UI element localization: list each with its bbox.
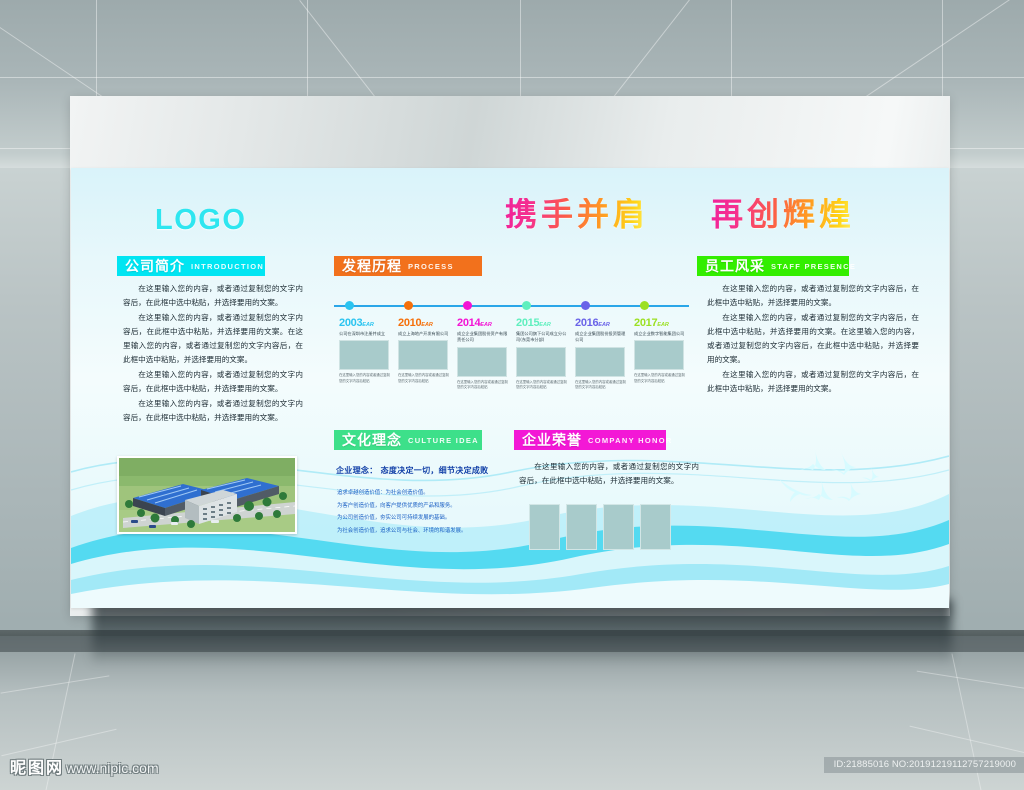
list-item: 为社会创造价值，追求公司与社会、环境的和谐发展。 [337,525,532,538]
section-title-en: CULTURE IDEA [408,436,479,445]
timeline-image-placeholder [339,340,389,370]
section-title-cn: 发程历程 [342,256,402,276]
timeline-year-suffix: EAR [480,322,492,328]
staff-body: 在这里输入您的内容，或者通过复制您的文字内容后，在此框中选中粘贴，并选择要用的文… [707,282,919,397]
timeline-dot [640,301,649,310]
watermark-brand-char: 图 [28,760,44,776]
timeline-year-suffix: EAR [362,322,374,328]
timeline-year-suffix: EAR [657,322,669,328]
timeline-year-suffix: EAR [421,322,433,328]
section-header-culture: 文化理念 CULTURE IDEA [334,430,482,450]
watermark-logo: 昵 图 网 www.nipic.com [10,760,159,776]
timeline-image-placeholder [575,347,625,377]
culture-motto: 企业理念： 态度决定一切，细节决定成败 [336,465,488,476]
factory-photo [117,456,297,534]
culture-value-list: 追求卓越创造价值：为社会创造价值。 为客户创造价值，向客户提供优质的产品和服务。… [337,487,532,538]
slogan-left: 携手并肩 [505,198,649,230]
section-title-cn: 文化理念 [342,430,402,450]
honor-image-placeholder [529,504,560,550]
list-item: 追求卓越创造价值：为社会创造价值。 [337,487,532,500]
company-culture-poster: LOGO 携手并肩 再创辉煌 公司简介 INTRODUCTION 在这里输入您的… [71,168,949,608]
paragraph: 在这里输入您的内容，或者通过复制您的文字内容后，在此框中选中粘贴，并选择要用的文… [707,282,919,310]
watermark-id: ID:21885016 NO:20191219112757219000 [824,757,1024,773]
timeline-year-suffix: EAR [598,322,610,328]
timeline-year: 2003EAR [339,317,391,329]
timeline-caption: 在这里输入您的内容或者通过复制您的文字内容后粘贴 [634,373,686,384]
slogan-left-text: 携手并肩 [505,198,649,230]
honor-image-placeholder [640,504,671,550]
section-header-introduction: 公司简介 INTRODUCTION [117,256,265,276]
timeline-description: 成立企业集团股份投资管理公司 [575,331,627,344]
timeline-description: 集团公司旗下公司成立分公司(东莞市分部) [516,331,568,344]
timeline-item: 2010EAR成立上海地产开发有限公司在这里输入您的内容或者通过复制您的文字内容… [398,317,450,384]
timeline-image-placeholder [398,340,448,370]
honor-image-placeholder [603,504,634,550]
section-header-honor: 企业荣誉 COMPANY HONOR [514,430,666,450]
paragraph: 在这里输入您的内容，或者通过复制您的文字内容后，在此框中选中粘贴，并选择要用的文… [123,368,303,396]
panel-drop-shadow [92,600,952,666]
paragraph: 在这里输入您的内容，或者通过复制您的文字内容后，在此框中选中粘贴，并选择要用的文… [123,397,303,425]
timeline-image-placeholder [634,340,684,370]
slogan-right: 再创辉煌 [711,198,855,230]
timeline-caption: 在这里输入您的内容或者通过复制您的文字内容后粘贴 [516,380,568,391]
timeline-image-placeholder [457,347,507,377]
section-title-cn: 企业荣誉 [522,430,582,450]
list-item: 为客户创造价值，向客户提供优质的产品和服务。 [337,500,532,513]
watermark-brand-char: 昵 [10,760,26,776]
section-title-en: STAFF PRESENCE [771,262,856,271]
list-item: 为公司创造价值，夯实公司可持续发展的基础。 [337,512,532,525]
timeline-dot [463,301,472,310]
timeline-item: 2003EAR公司在深圳市注册并成立在这里输入您的内容或者通过复制您的文字内容后… [339,317,391,384]
introduction-body: 在这里输入您的内容，或者通过复制您的文字内容后，在此框中选中粘贴，并选择要用的文… [123,282,303,426]
timeline-description: 公司在深圳市注册并成立 [339,331,391,337]
watermark-url: www.nipic.com [66,760,159,776]
section-header-staff: 员工风采 STAFF PRESENCE [697,256,849,276]
paragraph: 在这里输入您的内容，或者通过复制您的文字内容后，在此框中选中粘贴，并选择要用的文… [123,282,303,310]
timeline-caption: 在这里输入您的内容或者通过复制您的文字内容后粘贴 [398,373,450,384]
watermark-brand-char: 网 [46,760,62,776]
timeline-description: 成立企业数字智能集团公司 [634,331,686,337]
timeline-image-placeholder [516,347,566,377]
section-title-en: COMPANY HONOR [588,436,673,445]
timeline-item: 2014EAR成立企业集团股份资产有限责任公司在这里输入您的内容或者通过复制您的… [457,317,509,390]
slogan-right-text: 再创辉煌 [711,198,855,230]
section-title-en: PROCESS [408,262,454,271]
timeline-year: 2010EAR [398,317,450,329]
watermark-brand: 昵 图 网 [10,760,62,776]
birds-icon [761,436,911,516]
section-title-cn: 公司简介 [125,256,185,276]
timeline-item: 2017EAR成立企业数字智能集团公司在这里输入您的内容或者通过复制您的文字内容… [634,317,686,384]
timeline-year-suffix: EAR [539,322,551,328]
section-title-en: INTRODUCTION [191,262,264,271]
paragraph: 在这里输入您的内容，或者通过复制您的文字内容后，在此框中选中粘贴，并选择要用的文… [519,460,699,488]
timeline-axis [334,305,689,307]
timeline-description: 成立上海地产开发有限公司 [398,331,450,337]
logo-text: LOGO [155,204,246,237]
section-header-process: 发程历程 PROCESS [334,256,482,276]
paragraph: 在这里输入您的内容，或者通过复制您的文字内容后，在此框中选中粘贴，并选择要用的文… [707,368,919,396]
timeline-caption: 在这里输入您的内容或者通过复制您的文字内容后粘贴 [457,380,509,391]
honor-image-placeholder [566,504,597,550]
timeline-dot [581,301,590,310]
section-title-cn: 员工风采 [705,256,765,276]
timeline-description: 成立企业集团股份资产有限责任公司 [457,331,509,344]
timeline-dot [522,301,531,310]
honor-body: 在这里输入您的内容，或者通过复制您的文字内容后，在此框中选中粘贴，并选择要用的文… [519,460,699,489]
timeline-caption: 在这里输入您的内容或者通过复制您的文字内容后粘贴 [575,380,627,391]
timeline-dot [404,301,413,310]
timeline-dot [345,301,354,310]
paragraph: 在这里输入您的内容，或者通过复制您的文字内容后，在此框中选中粘贴，并选择要用的文… [707,311,919,367]
timeline-year: 2017EAR [634,317,686,329]
timeline-item: 2016EAR成立企业集团股份投资管理公司在这里输入您的内容或者通过复制您的文字… [575,317,627,390]
timeline-year: 2016EAR [575,317,627,329]
timeline-caption: 在这里输入您的内容或者通过复制您的文字内容后粘贴 [339,373,391,384]
timeline-year: 2014EAR [457,317,509,329]
timeline-year: 2015EAR [516,317,568,329]
timeline-item: 2015EAR集团公司旗下公司成立分公司(东莞市分部)在这里输入您的内容或者通过… [516,317,568,390]
paragraph: 在这里输入您的内容，或者通过复制您的文字内容后，在此框中选中粘贴，并选择要用的文… [123,311,303,367]
